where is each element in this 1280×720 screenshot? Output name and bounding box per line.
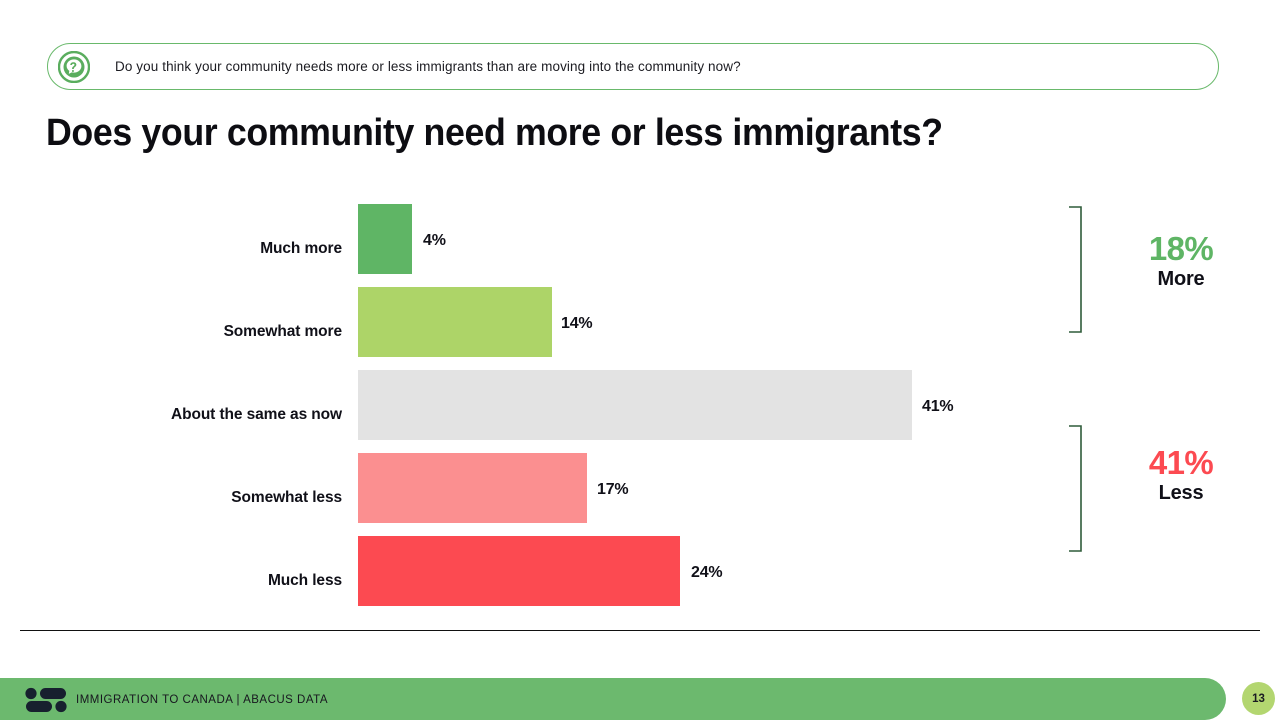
summary-less: 41% Less	[1095, 446, 1267, 505]
bar-value: 24%	[691, 564, 722, 582]
bar-somewhat-more	[358, 287, 552, 357]
bar-row: Much more 4%	[0, 204, 1280, 274]
bar-label: About the same as now	[171, 406, 342, 424]
bar-value: 14%	[561, 315, 592, 333]
summary-more-percent: 18%	[1095, 232, 1267, 267]
bar-label: Somewhat less	[231, 489, 342, 507]
question-speech-bubble-icon	[58, 51, 90, 83]
bar-label: Somewhat more	[224, 323, 342, 341]
bar-value: 4%	[423, 232, 446, 250]
bracket-more-shape	[1068, 206, 1084, 333]
footer-divider	[20, 630, 1260, 631]
summary-less-percent: 41%	[1095, 446, 1267, 481]
summary-more-label: More	[1095, 267, 1267, 291]
bar-row: Somewhat less 17%	[0, 453, 1280, 523]
bar-much-more	[358, 204, 412, 274]
footer-text: IMMIGRATION TO CANADA | ABACUS DATA	[76, 694, 328, 706]
page-title: Does your community need more or less im…	[46, 112, 943, 155]
question-banner: Do you think your community needs more o…	[47, 43, 1219, 90]
bracket-more	[1068, 206, 1084, 333]
bar-somewhat-less	[358, 453, 587, 523]
summary-more: 18% More	[1095, 232, 1267, 291]
abacus-data-logo-icon	[24, 687, 68, 713]
bar-label: Much more	[260, 240, 342, 258]
bar-value: 41%	[922, 398, 953, 416]
page-number-badge: 13	[1242, 682, 1275, 715]
bar-label: Much less	[268, 572, 342, 590]
bracket-less	[1068, 425, 1084, 552]
summary-less-label: Less	[1095, 481, 1267, 505]
bracket-less-shape	[1068, 425, 1084, 552]
bar-row: Somewhat more 14%	[0, 287, 1280, 357]
question-text: Do you think your community needs more o…	[115, 59, 741, 74]
bar-row: About the same as now 41%	[0, 370, 1280, 440]
bar-about-the-same	[358, 370, 912, 440]
bar-much-less	[358, 536, 680, 606]
bar-row: Much less 24%	[0, 536, 1280, 606]
bar-chart: Much more 4% Somewhat more 14% About the…	[0, 190, 1280, 620]
bar-value: 17%	[597, 481, 628, 499]
